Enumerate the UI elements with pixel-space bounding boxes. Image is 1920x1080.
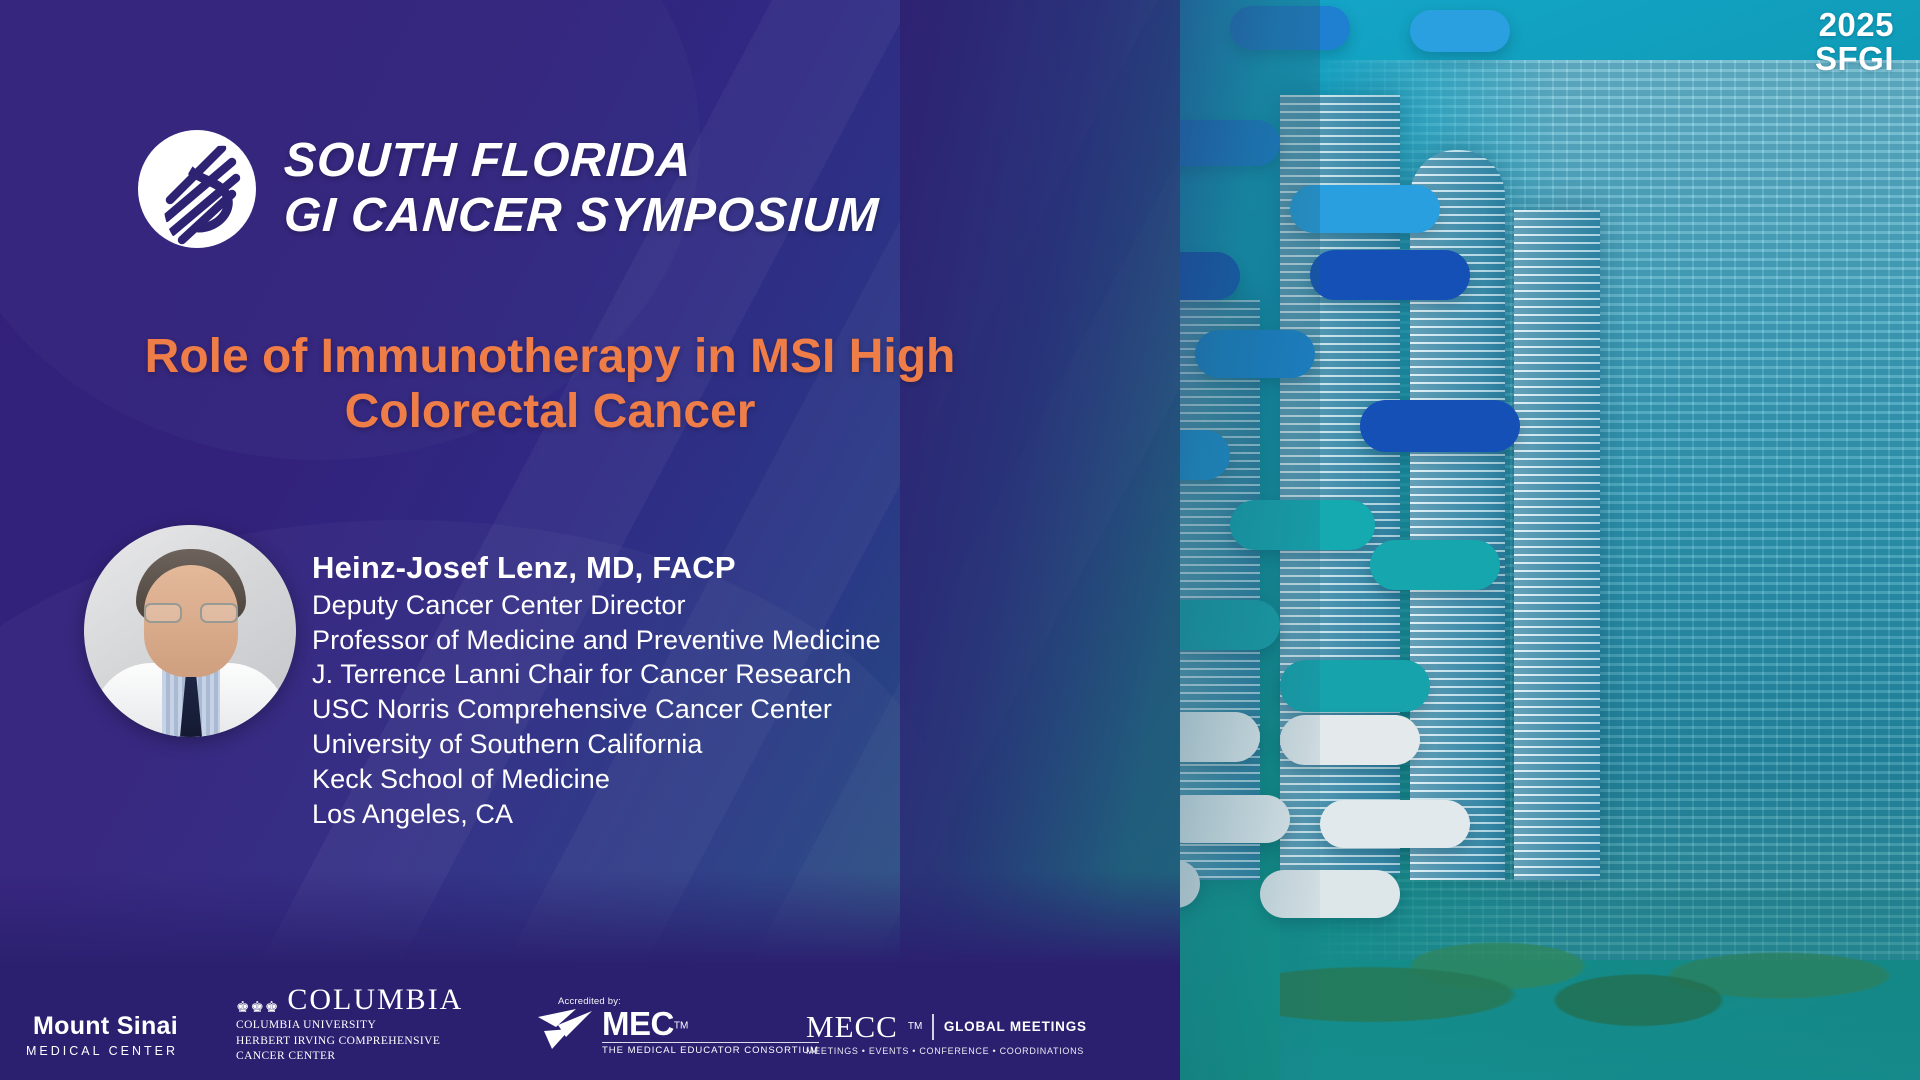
mec-logo: Accredited by: MECTM THE MEDICAL EDUCATO… <box>536 996 819 1056</box>
decorative-pill <box>1320 800 1470 848</box>
decorative-pill <box>1310 250 1470 300</box>
speaker-affiliation-line: Los Angeles, CA <box>312 797 1012 832</box>
mec-name: MEC <box>602 1005 674 1042</box>
decorative-pill <box>1370 540 1500 590</box>
columbia-sub-1: COLUMBIA UNIVERSITY <box>236 1018 463 1033</box>
mount-sinai-sub: MEDICAL CENTER <box>26 1044 178 1058</box>
mount-sinai-logo: Mount Sinai MEDICAL CENTER <box>26 1014 178 1058</box>
building-tower <box>1168 300 1260 880</box>
columbia-sub-3: CANCER CENTER <box>236 1049 463 1064</box>
event-logo-line-1: SOUTH FLORIDA <box>283 136 881 187</box>
speaker-affiliation-line: Deputy Cancer Center Director <box>312 588 1012 623</box>
decorative-pill <box>1230 6 1350 50</box>
talk-title-line-2: Colorectal Cancer <box>130 385 970 440</box>
speaker-affiliation-line: Professor of Medicine and Preventive Med… <box>312 623 1012 658</box>
mecc-sub: MEETINGS • EVENTS • CONFERENCE • COORDIN… <box>806 1046 1087 1056</box>
mec-sub: THE MEDICAL EDUCATOR CONSORTIUM <box>602 1042 819 1056</box>
event-logo-line-2: GI CANCER SYMPOSIUM <box>283 191 881 242</box>
crown-icon: ♚♚♚ <box>236 1000 279 1015</box>
speaker-affiliation-line: USC Norris Comprehensive Cancer Center <box>312 692 1012 727</box>
year-code-badge: 2025 SFGI <box>1815 8 1894 77</box>
mecc-tagline: GLOBAL MEETINGS <box>944 1019 1087 1034</box>
decorative-pill <box>1280 660 1430 712</box>
speaker-headshot <box>84 525 296 737</box>
decorative-pill <box>1280 715 1420 765</box>
mecc-divider <box>932 1014 934 1040</box>
decorative-pill <box>1230 500 1375 550</box>
talk-title-line-1: Role of Immunotherapy in MSI High <box>130 330 970 385</box>
talk-title: Role of Immunotherapy in MSI High Colore… <box>130 330 970 439</box>
foliage-band <box>1280 890 1920 1080</box>
eyeglasses-icon <box>142 603 240 623</box>
badge-year: 2025 <box>1815 8 1894 42</box>
speaker-affiliation-line: University of Southern California <box>312 727 1012 762</box>
mecc-name: MECC <box>806 1011 898 1042</box>
speaker-affiliation-line: J. Terrence Lanni Chair for Cancer Resea… <box>312 657 1012 692</box>
mec-tm: TM <box>674 1021 688 1032</box>
mecc-tm: TM <box>908 1021 922 1032</box>
columbia-name: COLUMBIA <box>287 985 463 1015</box>
speaker-affiliation-line: Keck School of Medicine <box>312 762 1012 797</box>
decorative-pill <box>1195 330 1315 378</box>
sfgi-circular-stripe-logo <box>136 128 258 250</box>
badge-code: SFGI <box>1815 42 1894 76</box>
presentation-slide: 2025 SFGI SOUTH FLORIDA GI CANCER SYMPOS… <box>0 0 1920 1080</box>
mount-sinai-name: Mount Sinai <box>26 1014 178 1039</box>
columbia-sub-2: HERBERT IRVING COMPREHENSIVE <box>236 1034 463 1049</box>
event-logo-wordmark: SOUTH FLORIDA GI CANCER SYMPOSIUM <box>284 136 879 242</box>
sponsor-logo-bar: Mount Sinai MEDICAL CENTER ♚♚♚ COLUMBIA … <box>0 984 1180 1072</box>
mecc-logo: MECC TM GLOBAL MEETINGS MEETINGS • EVENT… <box>806 1011 1087 1056</box>
decorative-pill <box>1410 10 1510 52</box>
mec-arrow-icon <box>536 1007 594 1056</box>
speaker-affiliations: Deputy Cancer Center DirectorProfessor o… <box>312 588 1012 832</box>
building-tower <box>1514 210 1600 880</box>
decorative-pill <box>1260 870 1400 918</box>
event-logo: SOUTH FLORIDA GI CANCER SYMPOSIUM <box>136 128 879 250</box>
columbia-logo: ♚♚♚ COLUMBIA COLUMBIA UNIVERSITY HERBERT… <box>236 985 463 1064</box>
decorative-pill <box>1290 185 1440 233</box>
decorative-pill <box>1360 400 1520 452</box>
mec-accredited-by: Accredited by: <box>558 996 819 1007</box>
speaker-name: Heinz-Josef Lenz, MD, FACP <box>312 548 1012 588</box>
speaker-info: Heinz-Josef Lenz, MD, FACP Deputy Cancer… <box>312 548 1012 831</box>
